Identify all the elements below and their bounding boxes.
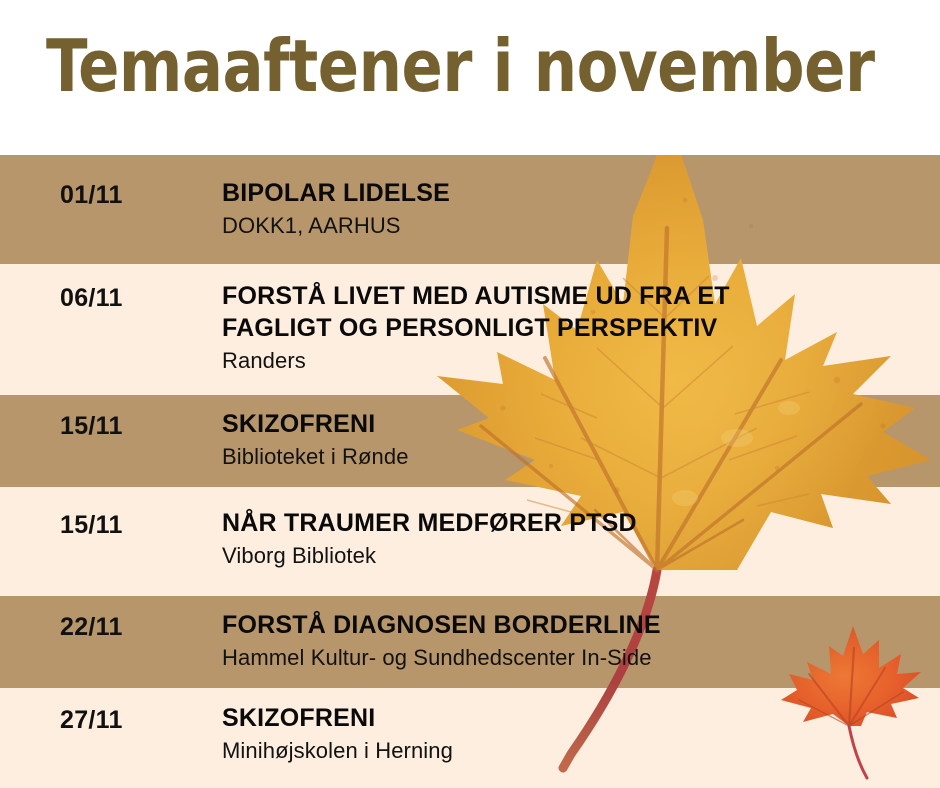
event-row-6: 27/11 SKIZOFRENI Minihøjskolen i Herning — [0, 688, 940, 788]
event-location: DOKK1, AARHUS — [222, 212, 922, 241]
event-row-2: 06/11 FORSTÅ LIVET MED AUTISME UD FRA ET… — [0, 264, 940, 395]
event-row-5: 22/11 FORSTÅ DIAGNOSEN BORDERLINE Hammel… — [0, 596, 940, 688]
event-row-3: 15/11 SKIZOFRENI Biblioteket i Rønde — [0, 395, 940, 487]
poster-canvas: Temaaftener i november 01/11 BIPOLAR LID… — [0, 0, 940, 788]
title-band: Temaaftener i november — [0, 0, 940, 155]
event-location: Hammel Kultur- og Sundhedscenter In-Side — [222, 644, 922, 673]
event-date: 27/11 — [60, 706, 123, 735]
event-row-4: 15/11 NÅR TRAUMER MEDFØRER PTSD Viborg B… — [0, 487, 940, 596]
event-date: 06/11 — [60, 284, 123, 313]
event-title: NÅR TRAUMER MEDFØRER PTSD — [222, 507, 922, 539]
event-date: 15/11 — [60, 412, 123, 441]
event-date: 01/11 — [60, 181, 123, 210]
event-location: Viborg Bibliotek — [222, 542, 922, 571]
event-location: Randers — [222, 347, 922, 376]
event-date: 15/11 — [60, 511, 123, 540]
event-title: FORSTÅ DIAGNOSEN BORDERLINE — [222, 609, 922, 641]
event-title: FORSTÅ LIVET MED AUTISME UD FRA ET FAGLI… — [222, 280, 922, 344]
event-location: Minihøjskolen i Herning — [222, 737, 922, 766]
event-row-1: 01/11 BIPOLAR LIDELSE DOKK1, AARHUS — [0, 155, 940, 264]
event-title: SKIZOFRENI — [222, 408, 922, 440]
event-title: BIPOLAR LIDELSE — [222, 177, 922, 209]
event-location: Biblioteket i Rønde — [222, 443, 922, 472]
page-title: Temaaftener i november — [46, 30, 875, 102]
event-title: SKIZOFRENI — [222, 702, 922, 734]
event-date: 22/11 — [60, 613, 123, 642]
